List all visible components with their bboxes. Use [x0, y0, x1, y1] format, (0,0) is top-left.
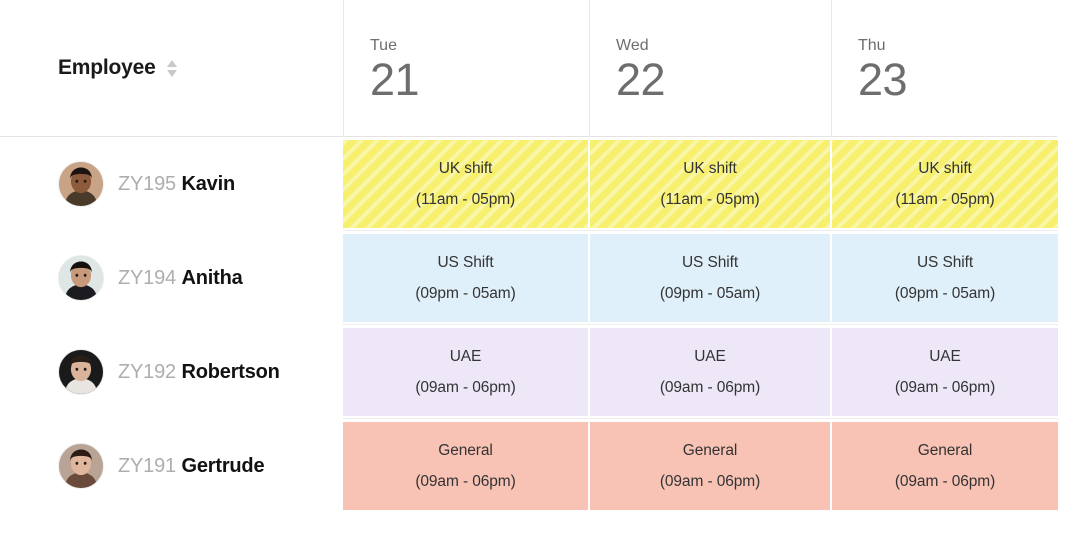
shift-cell[interactable]: General(09am - 06pm) — [832, 422, 1058, 510]
avatar-anitha — [58, 255, 104, 301]
shift-time: (09pm - 05am) — [660, 285, 760, 303]
shift-schedule-board: Employee Tue 21 Wed 22 Thu 23 ZY195 Kavi… — [0, 0, 1080, 540]
employee-id: ZY194 — [118, 267, 176, 289]
shift-time: (09am - 06pm) — [660, 473, 760, 491]
shift-time: (09pm - 05am) — [895, 285, 995, 303]
day-weekday-label: Wed — [616, 36, 831, 56]
employee-id: ZY192 — [118, 361, 176, 383]
avatar-robertson — [58, 349, 104, 395]
shift-cell[interactable]: UAE(09am - 06pm) — [832, 328, 1058, 416]
shift-cells-group: UK shift(11am - 05pm)UK shift(11am - 05p… — [343, 137, 1058, 231]
shift-time: (11am - 05pm) — [895, 191, 994, 209]
shift-cell[interactable]: US Shift(09pm - 05am) — [343, 234, 588, 322]
day-date-label: 22 — [616, 56, 831, 103]
sort-updown-icon[interactable] — [167, 60, 178, 77]
employee-name: Anitha — [182, 267, 243, 289]
shift-cells-group: US Shift(09pm - 05am)US Shift(09pm - 05a… — [343, 231, 1058, 325]
shift-cell[interactable]: UAE(09am - 06pm) — [590, 328, 830, 416]
employee-id: ZY191 — [118, 455, 176, 477]
employee-sort-control[interactable]: Employee — [58, 56, 178, 80]
employee-cell[interactable]: ZY191 Gertrude — [0, 419, 343, 513]
day-weekday-label: Tue — [370, 36, 589, 56]
shift-name: US Shift — [917, 254, 973, 272]
shift-name: UK shift — [918, 160, 971, 178]
shift-cell[interactable]: US Shift(09pm - 05am) — [590, 234, 830, 322]
board-body: ZY195 KavinUK shift(11am - 05pm)UK shift… — [0, 137, 1080, 513]
shift-time: (09am - 06pm) — [415, 473, 515, 491]
table-row[interactable]: ZY194 AnithaUS Shift(09pm - 05am)US Shif… — [0, 231, 1080, 325]
employee-name: Kavin — [182, 173, 235, 195]
day-column-header-0[interactable]: Tue 21 — [343, 0, 589, 137]
shift-cells-group: UAE(09am - 06pm)UAE(09am - 06pm)UAE(09am… — [343, 325, 1058, 419]
shift-name: US Shift — [437, 254, 493, 272]
shift-name: General — [683, 442, 737, 460]
shift-time: (09am - 06pm) — [895, 379, 995, 397]
sort-descending-icon[interactable] — [167, 70, 177, 77]
day-date-label: 21 — [370, 56, 589, 103]
shift-time: (09am - 06pm) — [415, 379, 515, 397]
employee-column-header[interactable]: Employee — [0, 0, 343, 137]
shift-cell[interactable]: US Shift(09pm - 05am) — [832, 234, 1058, 322]
shift-name: UAE — [929, 348, 961, 366]
shift-time: (11am - 05pm) — [416, 191, 515, 209]
table-row[interactable]: ZY192 RobertsonUAE(09am - 06pm)UAE(09am … — [0, 325, 1080, 419]
shift-cell[interactable]: General(09am - 06pm) — [343, 422, 588, 510]
employee-name: Robertson — [182, 361, 280, 383]
day-column-header-2[interactable]: Thu 23 — [831, 0, 1057, 137]
avatar-kavin — [58, 161, 104, 207]
table-row[interactable]: ZY191 GertrudeGeneral(09am - 06pm)Genera… — [0, 419, 1080, 513]
shift-name: UK shift — [683, 160, 736, 178]
employee-column-label: Employee — [58, 56, 156, 80]
shift-time: (09pm - 05am) — [415, 285, 515, 303]
shift-cell[interactable]: UAE(09am - 06pm) — [343, 328, 588, 416]
shift-time: (09am - 06pm) — [660, 379, 760, 397]
shift-cell[interactable]: UK shift(11am - 05pm) — [343, 140, 588, 228]
shift-cell[interactable]: UK shift(11am - 05pm) — [832, 140, 1058, 228]
employee-name-wrap: ZY195 Kavin — [118, 173, 235, 196]
shift-name: UAE — [450, 348, 482, 366]
shift-cell[interactable]: UK shift(11am - 05pm) — [590, 140, 830, 228]
shift-name: UK shift — [439, 160, 492, 178]
shift-cells-group: General(09am - 06pm)General(09am - 06pm)… — [343, 419, 1058, 513]
employee-id: ZY195 — [118, 173, 176, 195]
employee-name-wrap: ZY192 Robertson — [118, 361, 280, 384]
shift-name: General — [438, 442, 492, 460]
shift-name: US Shift — [682, 254, 738, 272]
shift-time: (09am - 06pm) — [895, 473, 995, 491]
employee-cell[interactable]: ZY192 Robertson — [0, 325, 343, 419]
day-column-header-1[interactable]: Wed 22 — [589, 0, 831, 137]
employee-cell[interactable]: ZY195 Kavin — [0, 137, 343, 231]
employee-name-wrap: ZY191 Gertrude — [118, 455, 264, 478]
employee-name-wrap: ZY194 Anitha — [118, 267, 243, 290]
employee-name: Gertrude — [182, 455, 265, 477]
board-header: Employee Tue 21 Wed 22 Thu 23 — [0, 0, 1080, 137]
shift-name: General — [918, 442, 972, 460]
avatar-gertrude — [58, 443, 104, 489]
table-row[interactable]: ZY195 KavinUK shift(11am - 05pm)UK shift… — [0, 137, 1080, 231]
day-weekday-label: Thu — [858, 36, 1057, 56]
day-date-label: 23 — [858, 56, 1057, 103]
sort-ascending-icon[interactable] — [167, 60, 177, 67]
shift-name: UAE — [694, 348, 726, 366]
shift-time: (11am - 05pm) — [660, 191, 759, 209]
shift-cell[interactable]: General(09am - 06pm) — [590, 422, 830, 510]
employee-cell[interactable]: ZY194 Anitha — [0, 231, 343, 325]
